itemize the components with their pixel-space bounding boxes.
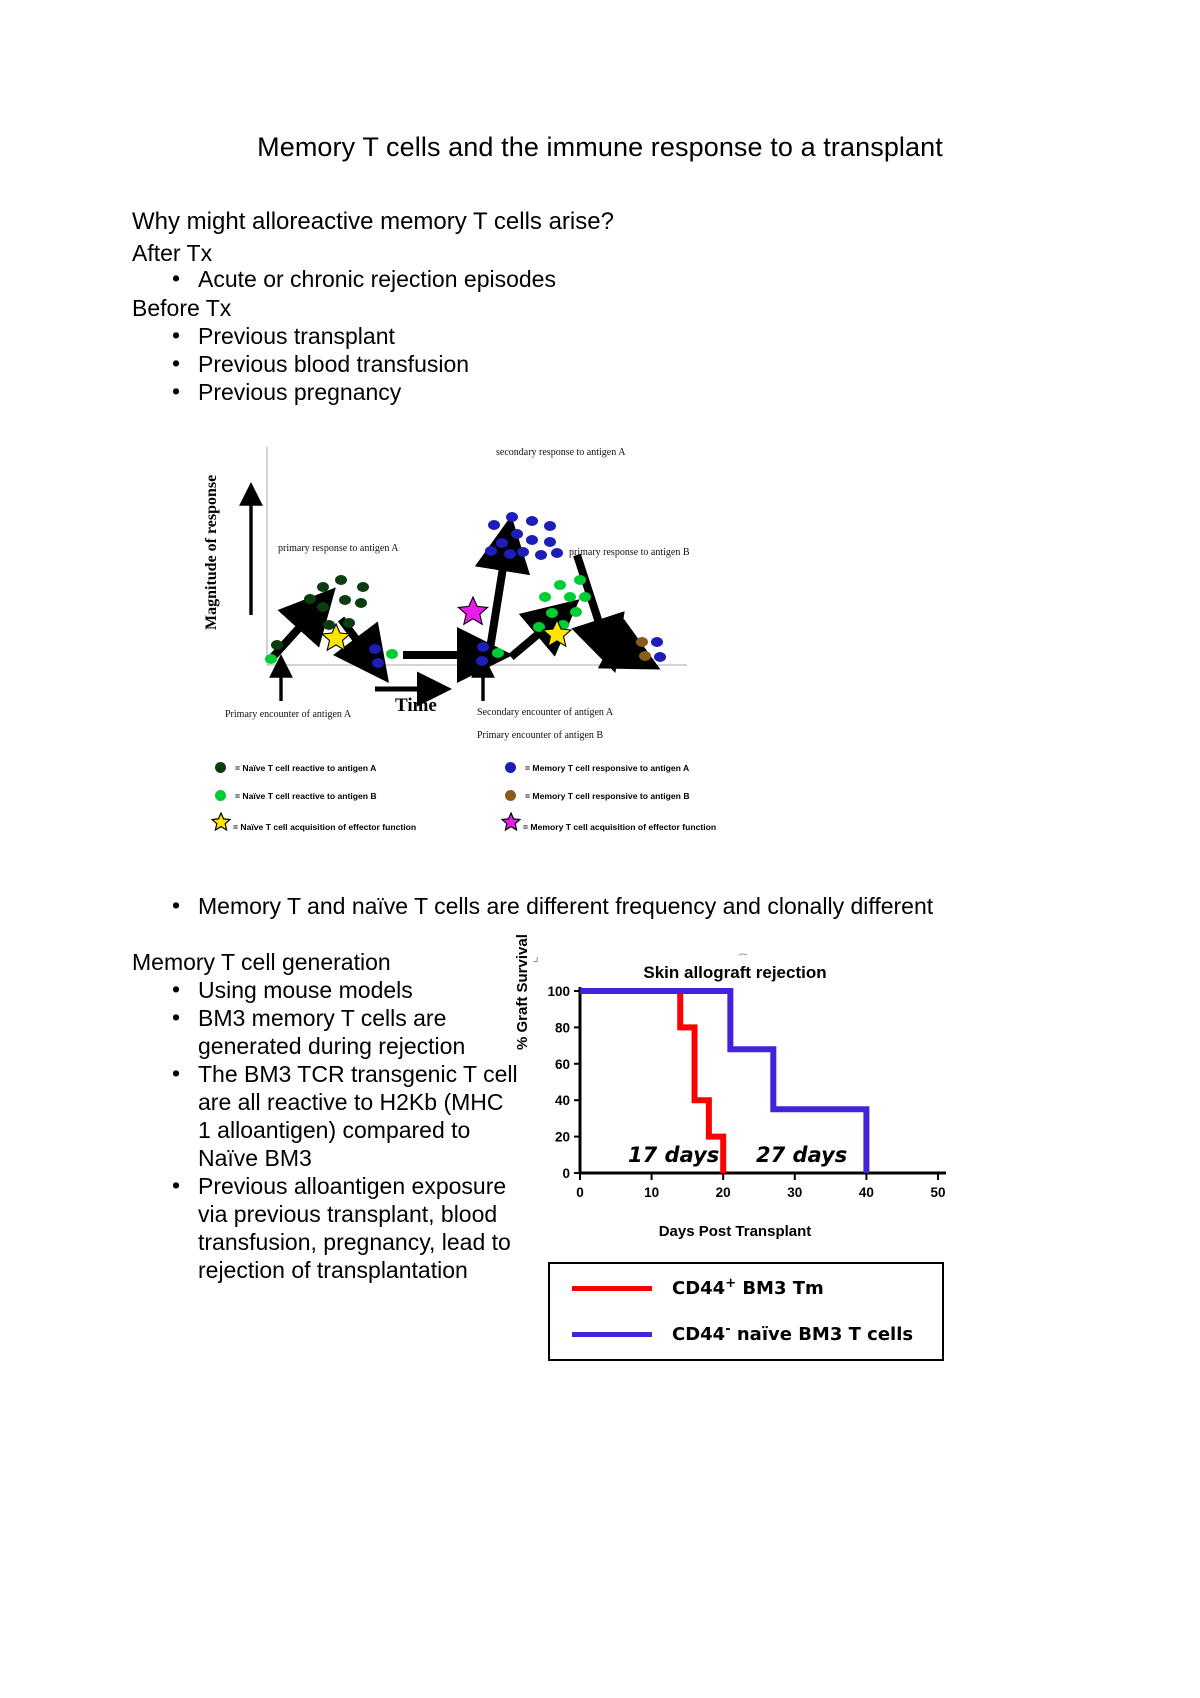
svg-text:50: 50 bbox=[930, 1185, 945, 1200]
list-item: Using mouse models bbox=[160, 976, 520, 1004]
callout-primary-response-a: primary response to antigen A bbox=[278, 543, 399, 554]
list-item: The BM3 TCR transgenic T cell are all re… bbox=[160, 1060, 520, 1172]
memory-generation-label: Memory T cell generation bbox=[132, 949, 391, 976]
svg-text:60: 60 bbox=[555, 1057, 570, 1072]
figure1-y-axis-label: Magnitude of response bbox=[203, 475, 221, 630]
svg-text:30: 30 bbox=[787, 1185, 802, 1200]
list-item: BM3 memory T cells are generated during … bbox=[160, 1004, 520, 1060]
legend-label-memory-star: = Memory T cell acquisition of effector … bbox=[523, 822, 716, 832]
legend-marker-memory-star-icon bbox=[501, 812, 521, 832]
legend-label-cd44-neg: CD44- naïve BM3 T cells bbox=[672, 1322, 913, 1345]
svg-text:40: 40 bbox=[555, 1093, 570, 1108]
list-item: Previous transplant bbox=[160, 322, 469, 350]
svg-text:0: 0 bbox=[562, 1166, 570, 1181]
legend-cd44-pos-rest: BM3 Tm bbox=[736, 1278, 824, 1299]
legend-marker-naive-star-icon bbox=[211, 812, 231, 832]
svg-text:0: 0 bbox=[576, 1185, 584, 1200]
after-tx-bullet-list: Acute or chronic rejection episodes bbox=[160, 265, 556, 293]
legend-cd44-pos-sup: + bbox=[725, 1276, 736, 1291]
legend-marker-naive-a-icon bbox=[215, 762, 226, 773]
legend-cd44-neg-main: CD44 bbox=[672, 1324, 725, 1345]
legend-cd44-pos-main: CD44 bbox=[672, 1278, 725, 1299]
chart-plot-area: 02040608010001020304050 bbox=[520, 955, 950, 1220]
memory-generation-bullet-list: Using mouse models BM3 memory T cells ar… bbox=[160, 976, 520, 1284]
skin-allograft-chart: ⌟ ⌢ Skin allograft rejection % Graft Sur… bbox=[520, 955, 950, 1255]
page-title: Memory T cells and the immune response t… bbox=[0, 132, 1200, 163]
crop-mark-right-icon: ⌢ bbox=[738, 945, 748, 962]
list-item: Previous pregnancy bbox=[160, 378, 469, 406]
chart-title: Skin allograft rejection bbox=[520, 963, 950, 983]
note-secondary-encounter-a: Secondary encounter of antigen A bbox=[477, 707, 613, 718]
svg-text:40: 40 bbox=[859, 1185, 874, 1200]
list-item: Acute or chronic rejection episodes bbox=[160, 265, 556, 293]
legend-label-naive-b: = Naïve T cell reactive to antigen B bbox=[235, 791, 377, 801]
note-primary-encounter-b: Primary encounter of antigen B bbox=[477, 730, 603, 741]
section-heading: Why might alloreactive memory T cells ar… bbox=[132, 208, 614, 235]
chart-y-axis-label: % Graft Survival bbox=[514, 934, 531, 1050]
svg-text:80: 80 bbox=[555, 1020, 570, 1035]
legend-label-memory-b: = Memory T cell responsive to antigen B bbox=[525, 791, 690, 801]
memory-note-bullet: Memory T and naïve T cells are different… bbox=[160, 893, 933, 920]
legend-label-naive-a: = Naïve T cell reactive to antigen A bbox=[235, 763, 376, 773]
svg-text:10: 10 bbox=[644, 1185, 659, 1200]
list-item: Previous blood transfusion bbox=[160, 350, 469, 378]
legend-marker-naive-b-icon bbox=[215, 790, 226, 801]
chart-legend-box: CD44+ BM3 Tm CD44- naïve BM3 T cells bbox=[548, 1262, 944, 1361]
annotation-17-days: 17 days bbox=[628, 1143, 719, 1167]
legend-swatch-cd44-neg bbox=[572, 1332, 652, 1337]
note-primary-encounter-a: Primary encounter of antigen A bbox=[225, 709, 351, 720]
immune-response-diagram: Magnitude of response primary response t… bbox=[205, 437, 705, 727]
legend-marker-memory-b-icon bbox=[505, 790, 516, 801]
svg-text:100: 100 bbox=[547, 984, 570, 999]
figure1-legend: = Naïve T cell reactive to antigen A = N… bbox=[205, 757, 765, 842]
after-tx-label: After Tx bbox=[132, 240, 212, 267]
svg-text:20: 20 bbox=[555, 1130, 570, 1145]
svg-text:20: 20 bbox=[716, 1185, 731, 1200]
callout-secondary-response-a: secondary response to antigen A bbox=[496, 447, 625, 458]
legend-label-naive-star: = Naïve T cell acquisition of effector f… bbox=[233, 822, 416, 832]
callout-primary-response-b: primary response to antigen B bbox=[569, 547, 690, 558]
document-page: Memory T cells and the immune response t… bbox=[0, 0, 1200, 1698]
annotation-27-days: 27 days bbox=[756, 1143, 847, 1167]
legend-marker-memory-a-icon bbox=[505, 762, 516, 773]
figure1-time-label: Time bbox=[395, 695, 437, 717]
list-item: Previous alloantigen exposure via previo… bbox=[160, 1172, 520, 1284]
before-tx-bullet-list: Previous transplant Previous blood trans… bbox=[160, 322, 469, 406]
chart-x-axis-label: Days Post Transplant bbox=[520, 1223, 950, 1240]
before-tx-label: Before Tx bbox=[132, 295, 231, 322]
legend-label-memory-a: = Memory T cell responsive to antigen A bbox=[525, 763, 689, 773]
legend-swatch-cd44-pos bbox=[572, 1286, 652, 1291]
legend-label-cd44-pos: CD44+ BM3 Tm bbox=[672, 1276, 824, 1299]
legend-cd44-neg-rest: naïve BM3 T cells bbox=[731, 1324, 914, 1345]
